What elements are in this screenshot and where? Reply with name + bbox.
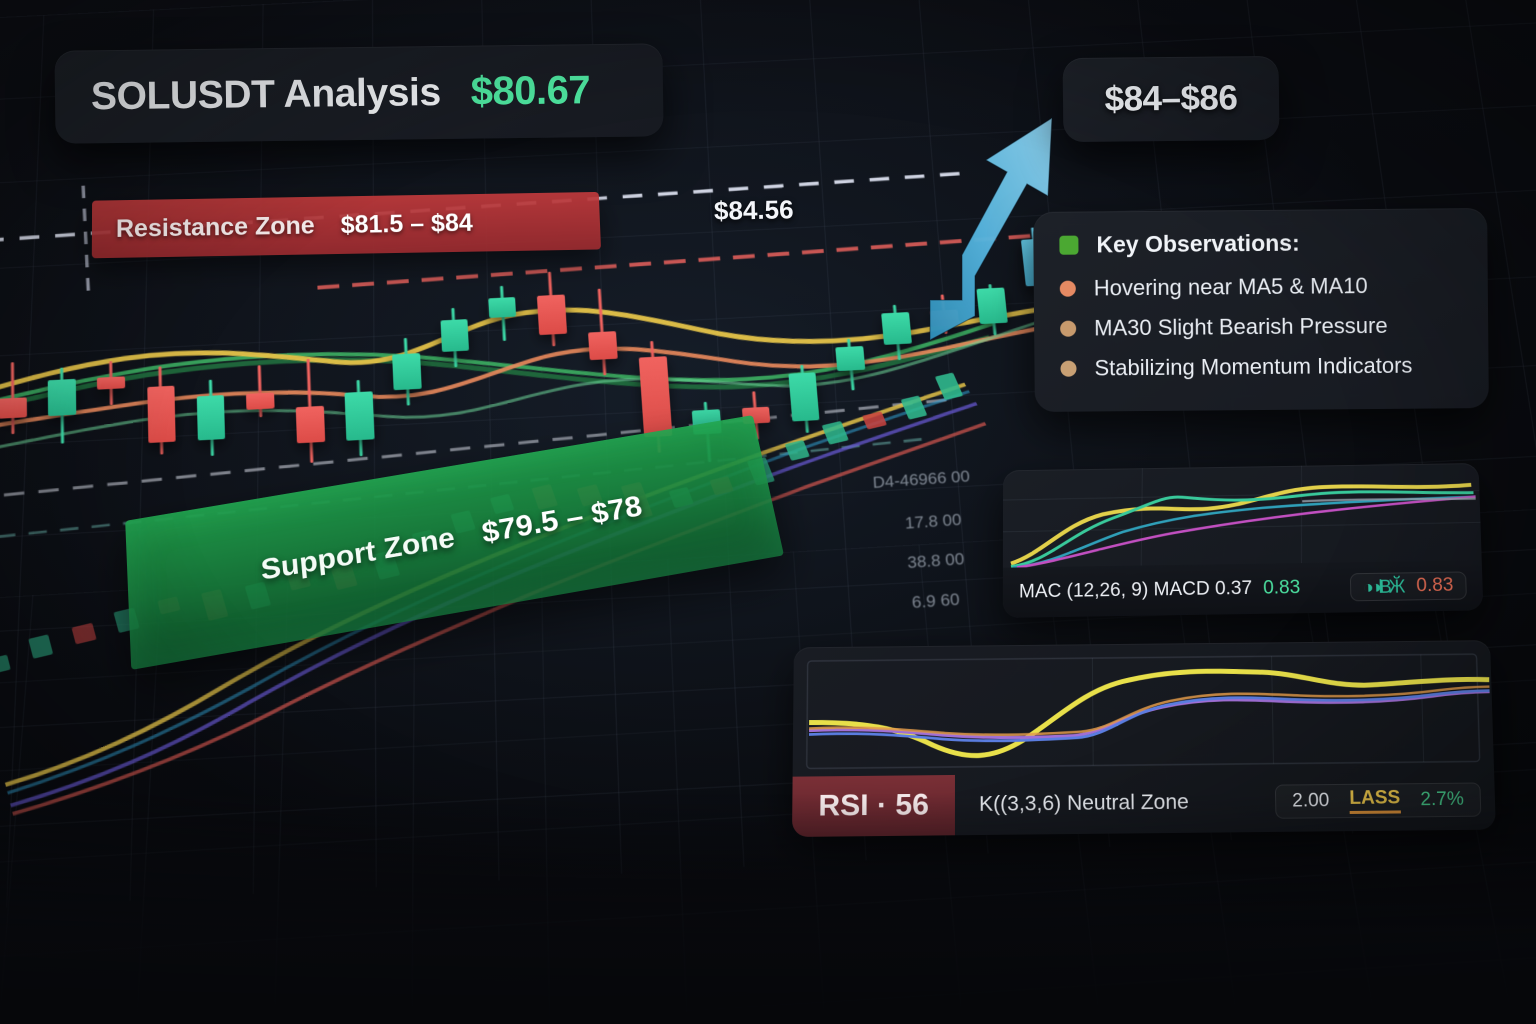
resistance-label: Resistance Zone: [116, 211, 315, 243]
candle-body: [977, 287, 1008, 324]
observations-header: Key Observations:: [1059, 228, 1461, 259]
kdj-label: K((3,3,6) Neutral Zone: [955, 790, 1213, 817]
candle-body: [0, 397, 27, 418]
observation-item: Hovering near MA5 & MA10: [1060, 272, 1462, 302]
macd-title: MAC (12,26, 9) MACD 0.37: [1019, 578, 1252, 604]
bullet-dot-icon: [1060, 321, 1076, 337]
macd-readout-bar: MAC (12,26, 9) MACD 0.37 0.83 ◑◑ƖВӁ 0.83: [1003, 560, 1484, 618]
candle-body: [147, 386, 176, 443]
candle-body: [440, 319, 469, 352]
title-card: SOLUSDT Analysis $80.67: [54, 43, 663, 143]
macd-glyph-icons: ◑◑ƖВӁ: [1363, 576, 1403, 598]
candle-body: [97, 376, 125, 389]
observation-item: Stabilizing Momentum Indicators: [1060, 352, 1462, 382]
candle-body: [393, 353, 422, 390]
page-title: SOLUSDT Analysis: [91, 71, 441, 119]
axis-label: D4-46966 00: [872, 467, 970, 493]
resistance-range: $81.5 – $84: [340, 208, 473, 239]
price-line-label: $84.56: [714, 194, 794, 227]
macd-red-value: 0.83: [1416, 575, 1454, 598]
observation-item: MA30 Slight Bearish Pressure: [1060, 312, 1462, 342]
axis-label: 38.8 00: [907, 549, 965, 573]
rsi-readout-bar: RSI · 56 K((3,3,6) Neutral Zone 2.00 LAS…: [792, 769, 1496, 837]
bullet-dot-icon: [1060, 361, 1076, 377]
candle-wick: [257, 365, 262, 417]
rsi-chip: 2.00 LASS 2.7%: [1275, 782, 1482, 818]
support-range: $79.5 – $78: [480, 489, 645, 550]
candle-body: [588, 331, 617, 360]
rsi-chip-percent: 2.7%: [1420, 789, 1464, 812]
observations-heading: Key Observations:: [1096, 230, 1299, 259]
rsi-panel: RSI · 56 K((3,3,6) Neutral Zone 2.00 LAS…: [792, 640, 1496, 837]
macd-plot: [1003, 463, 1482, 568]
candle-body: [48, 379, 76, 416]
target-range-label: $84–$86: [1104, 78, 1237, 119]
macd-green-value: 0.83: [1263, 577, 1301, 600]
bullet-dot-icon: [1060, 281, 1076, 297]
candle-body: [197, 395, 226, 440]
rsi-chip-value: 2.00: [1292, 790, 1330, 812]
observation-text: MA30 Slight Bearish Pressure: [1094, 313, 1388, 342]
resistance-zone-banner: Resistance Zone $81.5 – $84: [92, 192, 601, 258]
target-price-badge: $84–$86: [1063, 56, 1280, 142]
observation-text: Hovering near MA5 & MA10: [1094, 273, 1368, 301]
chart-stage: D4-46966 00 17.8 00 38.8 00 6.9 60 SOLUS…: [0, 0, 1536, 1024]
rsi-chip-tag: LASS: [1349, 787, 1400, 814]
macd-panel: MAC (12,26, 9) MACD 0.37 0.83 ◑◑ƖВӁ 0.83: [1003, 463, 1484, 618]
macd-chip: ◑◑ƖВӁ 0.83: [1349, 571, 1466, 601]
legend-square-icon: [1059, 236, 1078, 255]
candle-body: [537, 294, 567, 335]
axis-label: 6.9 60: [911, 590, 960, 613]
axis-label: 17.8 00: [904, 510, 962, 533]
observation-text: Stabilizing Momentum Indicators: [1094, 353, 1412, 382]
rsi-value-label: RSI · 56: [818, 788, 929, 823]
current-price: $80.67: [470, 68, 590, 114]
support-label: Support Zone: [260, 522, 457, 588]
candle-body: [246, 392, 274, 409]
candle-body: [488, 297, 516, 318]
rsi-badge: RSI · 56: [792, 775, 955, 837]
key-observations-panel: Key Observations: Hovering near MA5 & MA…: [1033, 208, 1489, 412]
rsi-plot: [793, 648, 1494, 777]
